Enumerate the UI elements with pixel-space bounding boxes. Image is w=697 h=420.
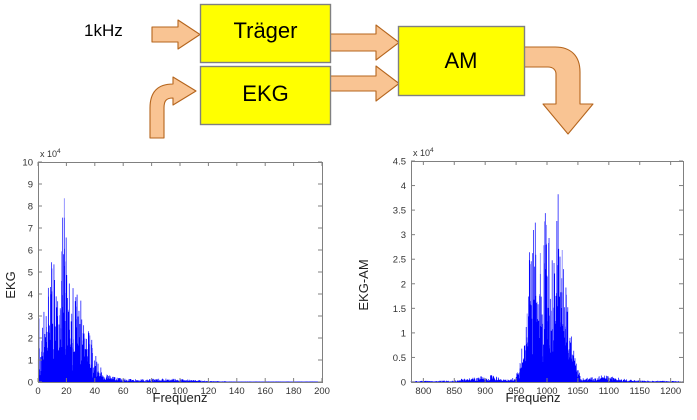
x-tick-label: 1100 (599, 386, 619, 397)
chart-right-ylabel: EKG-AM (356, 259, 371, 310)
chart-left-ylabel: EKG (3, 271, 18, 298)
arrow-input-1khz-to-traeger (152, 20, 200, 49)
chart-right-trace (411, 194, 683, 382)
x-tick-label: 900 (477, 386, 493, 397)
x-tick-label: 140 (229, 386, 245, 397)
y-tick-label: 3.5 (393, 206, 406, 217)
chart-left-xlabel: Frequenz (153, 390, 208, 405)
chart-ekg-spectrum: x 104 0204060801001201401601802000123456… (0, 140, 350, 420)
y-tick-label: 4 (28, 290, 33, 301)
x-tick-label: 200 (314, 386, 330, 397)
chart-ekg-am-spectrum: x 104 8008509009501000105011001150120000… (350, 140, 697, 420)
x-tick-label: 1150 (630, 386, 650, 397)
x-tick-label: 1200 (660, 386, 681, 397)
y-tick-label: 3 (28, 312, 33, 323)
arrow-ekg-to-am (325, 66, 399, 101)
input-frequency-label: 1kHz (84, 22, 144, 39)
y-tick-label: 1 (401, 328, 406, 339)
y-tick-label: 8 (28, 202, 33, 213)
block-am-label: AM (398, 50, 524, 72)
chart-right-canvas: x 104 8008509009501000105011001150120000… (350, 140, 697, 420)
x-tick-label: 40 (90, 386, 101, 397)
y-axis-multiplier: x 104 (413, 147, 434, 158)
x-tick-label: 800 (415, 386, 431, 397)
x-tick-label: 850 (446, 386, 462, 397)
y-tick-label: 0.5 (393, 353, 406, 364)
y-tick-label: 2.5 (393, 255, 406, 266)
x-tick-label: 1050 (567, 386, 588, 397)
y-tick-label: 1 (28, 356, 33, 367)
chart-left-canvas: x 104 0204060801001201401601802000123456… (0, 140, 350, 420)
arrow-traeger-to-am (325, 25, 399, 60)
y-tick-label: 7 (28, 224, 33, 235)
y-tick-label: 6 (28, 246, 33, 257)
x-tick-label: 20 (61, 386, 72, 397)
y-tick-label: 0 (401, 378, 406, 389)
y-tick-label: 0 (28, 378, 33, 389)
x-tick-label: 0 (35, 386, 40, 397)
block-diagram: 1kHz Träger EKG AM (0, 0, 697, 140)
block-traeger-label: Träger (200, 20, 331, 42)
block-ekg-label: EKG (200, 83, 331, 105)
y-tick-label: 2 (401, 279, 406, 290)
arrow-am-output (518, 47, 593, 134)
x-tick-label: 60 (118, 386, 129, 397)
chart-left-trace (38, 198, 322, 382)
x-tick-label: 180 (286, 386, 302, 397)
y-tick-label: 5 (28, 268, 33, 279)
arrow-feedback-into-ekg (150, 77, 196, 138)
y-tick-label: 3 (401, 230, 406, 241)
y-tick-label: 4 (401, 181, 406, 192)
y-tick-label: 4.5 (393, 157, 406, 168)
y-axis-multiplier: x 104 (40, 148, 61, 159)
x-tick-label: 160 (257, 386, 273, 397)
chart-right-xlabel: Frequenz (506, 390, 561, 405)
y-tick-label: 9 (28, 180, 33, 191)
y-tick-label: 10 (22, 158, 33, 169)
figure-root: 1kHz Träger EKG AM x 104 020406080100120… (0, 0, 697, 420)
y-tick-label: 2 (28, 334, 33, 345)
y-tick-label: 1.5 (393, 304, 406, 315)
